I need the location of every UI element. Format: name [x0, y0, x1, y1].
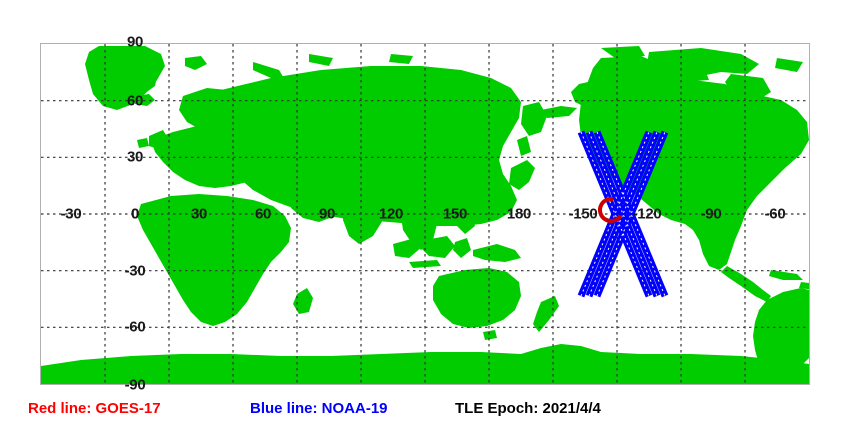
legend-red-line-goes-17: Red line: GOES-17: [28, 401, 161, 416]
lon-tick--30: -30: [61, 207, 82, 222]
legend-blue-line-noaa-19: Blue line: NOAA-19: [250, 401, 388, 416]
lat-tick-30: 30: [127, 150, 143, 165]
lat-tick--30: -30: [125, 263, 146, 278]
lon-tick-120: 120: [379, 207, 403, 222]
lat-tick-0: 0: [131, 207, 139, 222]
lat-tick-60: 60: [127, 93, 143, 108]
lat-tick-90: 90: [127, 35, 143, 50]
lon-tick--60: -60: [765, 207, 786, 222]
lon-tick-90: 90: [319, 207, 335, 222]
lon-tick-60: 60: [255, 207, 271, 222]
satellite-ground-track-map: -30 0 30 60 90 120 150 180 -150 -120 -90…: [0, 0, 850, 425]
lon-tick--120: -120: [633, 207, 662, 222]
legend-bar: Red line: GOES-17 Blue line: NOAA-19 TLE…: [0, 393, 850, 425]
lon-tick-30: 30: [191, 207, 207, 222]
map-frame: -30 0 30 60 90 120 150 180 -150 -120 -90…: [40, 43, 810, 385]
lon-tick-180: 180: [507, 207, 531, 222]
lon-tick--90: -90: [701, 207, 722, 222]
world-map-svg: [41, 44, 809, 384]
lon-tick-150: 150: [443, 207, 467, 222]
lat-tick--90: -90: [125, 378, 146, 393]
lat-tick--60: -60: [125, 320, 146, 335]
lon-tick--150: -150: [569, 207, 598, 222]
legend-tle-epoch: TLE Epoch: 2021/4/4: [455, 401, 601, 416]
